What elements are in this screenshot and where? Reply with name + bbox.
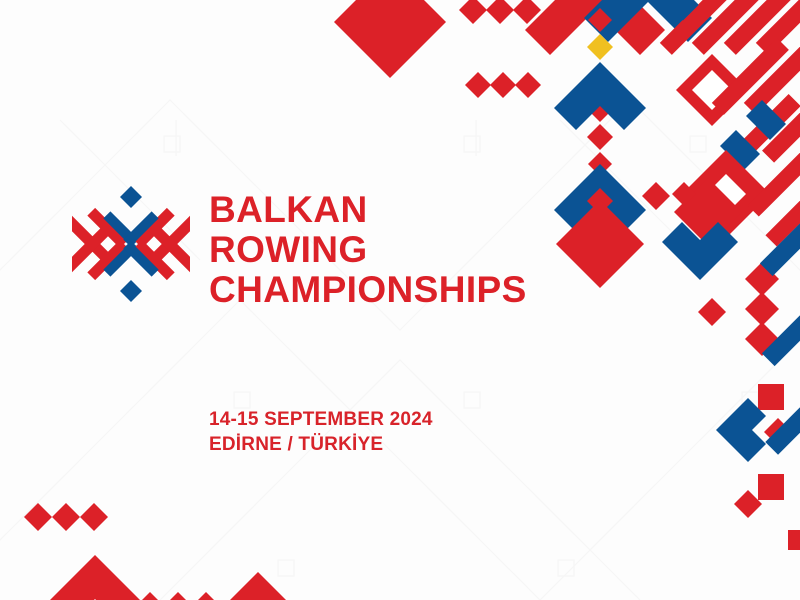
- motif-small-diamond-row-right: [642, 182, 696, 210]
- motif-red-diagonal-stripes-top: [660, 0, 800, 163]
- title-line-1: BALKAN: [209, 190, 639, 230]
- event-details: 14-15 SEPTEMBER 2024 EDİRNE / TÜRKİYE: [209, 407, 639, 457]
- logo-top-diamond: [120, 186, 142, 208]
- motif-bottom-left: [0, 503, 316, 600]
- event-dates: 14-15 SEPTEMBER 2024: [209, 407, 639, 432]
- logo-bottom-diamond: [120, 280, 142, 302]
- motif-blue-chevron-upper: [554, 62, 646, 130]
- title-line-2: ROWING: [209, 230, 639, 270]
- event-title: BALKAN ROWING CHAMPIONSHIPS: [209, 190, 639, 310]
- motif-red-chevron-top: [525, 0, 665, 55]
- event-location: EDİRNE / TÜRKİYE: [209, 432, 639, 457]
- motif-group-top-center: [334, 0, 541, 98]
- motif-group-top-right: [676, 54, 748, 126]
- motif-blue-chevron-top: [584, 0, 712, 42]
- motif-red-diagonal-stripes-right: [747, 151, 800, 246]
- motif-bottom-right-sparse: [788, 530, 800, 550]
- motif-blue-accents-top-right: [667, 0, 786, 170]
- logo-mark: [72, 183, 190, 305]
- poster-canvas: BALKAN ROWING CHAMPIONSHIPS 14-15 SEPTEM…: [0, 0, 800, 600]
- motif-red-diamond-outline-right: [682, 150, 770, 238]
- title-line-3: CHAMPIONSHIPS: [209, 270, 639, 310]
